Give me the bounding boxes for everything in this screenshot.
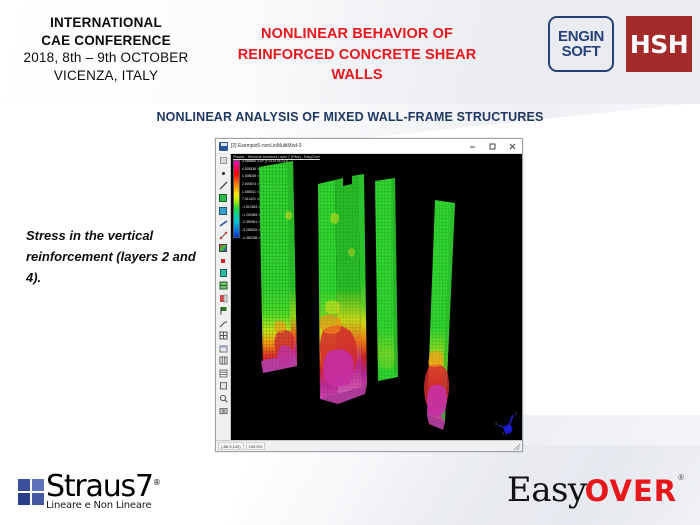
window-controls[interactable] [462, 139, 522, 154]
page-title: NONLINEAR BEHAVIOR OF REINFORCED CONCRET… [212, 24, 502, 86]
easyover-logo: Easy OVER ® [507, 473, 684, 507]
point-load-icon[interactable] [218, 255, 229, 266]
brick-icon[interactable] [218, 205, 229, 216]
figure-caption: Stress in the vertical reinforcement (la… [26, 225, 206, 288]
line-icon[interactable] [218, 180, 229, 191]
contour-icon[interactable] [218, 243, 229, 254]
app-icon [219, 142, 228, 151]
straus7-application-window[interactable]: [2] Esempio5-nonLinMultiMod-3 [215, 138, 523, 452]
window-body: Piastra - Tensione armatura Layer 2 (RMz… [216, 154, 522, 440]
entity-icon[interactable] [218, 343, 229, 354]
header-logos: ENGIN SOFT HSH [548, 16, 692, 72]
status-bar: (-66.3,142) 100.5% [216, 440, 522, 451]
mesh-icon[interactable] [218, 330, 229, 341]
enginsoft-logo: ENGIN SOFT [548, 16, 614, 72]
axis-label-y: Y [502, 432, 504, 436]
hsh-logo: HSH [626, 16, 692, 72]
conference-line-1: INTERNATIONAL [6, 14, 206, 32]
presentation-slide: INTERNATIONAL CAE CONFERENCE 2018, 8th –… [0, 0, 700, 525]
easyover-easy-text: Easy [507, 473, 587, 507]
restraint-icon[interactable] [218, 293, 229, 304]
maximize-button[interactable] [482, 139, 502, 154]
conference-location: VICENZA, ITALY [6, 67, 206, 85]
left-toolbar[interactable] [216, 154, 231, 440]
link-icon[interactable] [218, 230, 229, 241]
displacement-icon[interactable] [218, 318, 229, 329]
beam-icon[interactable] [218, 218, 229, 229]
straus7-logo: Straus7® Lineare e Non Lineare [18, 473, 160, 511]
wall-panel-1 [259, 161, 297, 373]
wall-panel-2 [318, 174, 367, 404]
easyover-over-text: OVER [585, 477, 677, 506]
easyover-registered-mark: ® [678, 473, 684, 482]
axis-label-x: X [495, 422, 497, 426]
slide-subtitle: NONLINEAR ANALYSIS OF MIXED WALL-FRAME S… [0, 110, 700, 124]
axis-label-z: Z [515, 412, 517, 416]
straus7-registered-mark: ® [153, 478, 160, 487]
attribute-icon[interactable] [218, 280, 229, 291]
clipboard-icon[interactable] [218, 380, 229, 391]
axis-triad: Z X Y [495, 412, 517, 436]
conference-line-2: CAE CONFERENCE [6, 32, 206, 50]
minimize-button[interactable] [462, 139, 482, 154]
conference-dates: 2018, 8th – 9th OCTOBER [6, 49, 206, 67]
model-viewport[interactable]: Piastra - Tensione armatura Layer 2 (RMz… [231, 154, 522, 440]
enginsoft-logo-line-2: SOFT [562, 44, 601, 59]
plate-icon[interactable] [218, 193, 229, 204]
status-zoom: 100.5% [246, 442, 266, 450]
flag-icon[interactable] [218, 305, 229, 316]
conference-info: INTERNATIONAL CAE CONFERENCE 2018, 8th –… [6, 14, 206, 84]
window-title: [2] Esempio5-nonLinMultiMod-3 [231, 143, 462, 149]
camera-icon[interactable] [218, 405, 229, 416]
node-icon[interactable] [218, 168, 229, 179]
table-icon[interactable] [218, 368, 229, 379]
magnify-icon[interactable] [218, 393, 229, 404]
wall-panel-4 [424, 200, 455, 430]
close-button[interactable] [502, 139, 522, 154]
face-load-icon[interactable] [218, 268, 229, 279]
resize-grip[interactable] [512, 442, 521, 451]
shear-wall-fe-model [231, 154, 522, 440]
enginsoft-logo-line-1: ENGIN [558, 29, 604, 44]
straus7-tagline: Lineare e Non Lineare [46, 500, 160, 511]
status-coordinates: (-66.3,142) [218, 442, 244, 450]
window-titlebar[interactable]: [2] Esempio5-nonLinMultiMod-3 [216, 139, 522, 154]
straus7-wordmark: Straus7® [46, 473, 160, 501]
wall-panel-3 [375, 178, 398, 381]
select-icon[interactable] [218, 155, 229, 166]
straus7-grid-icon [18, 479, 44, 505]
grid-icon[interactable] [218, 355, 229, 366]
